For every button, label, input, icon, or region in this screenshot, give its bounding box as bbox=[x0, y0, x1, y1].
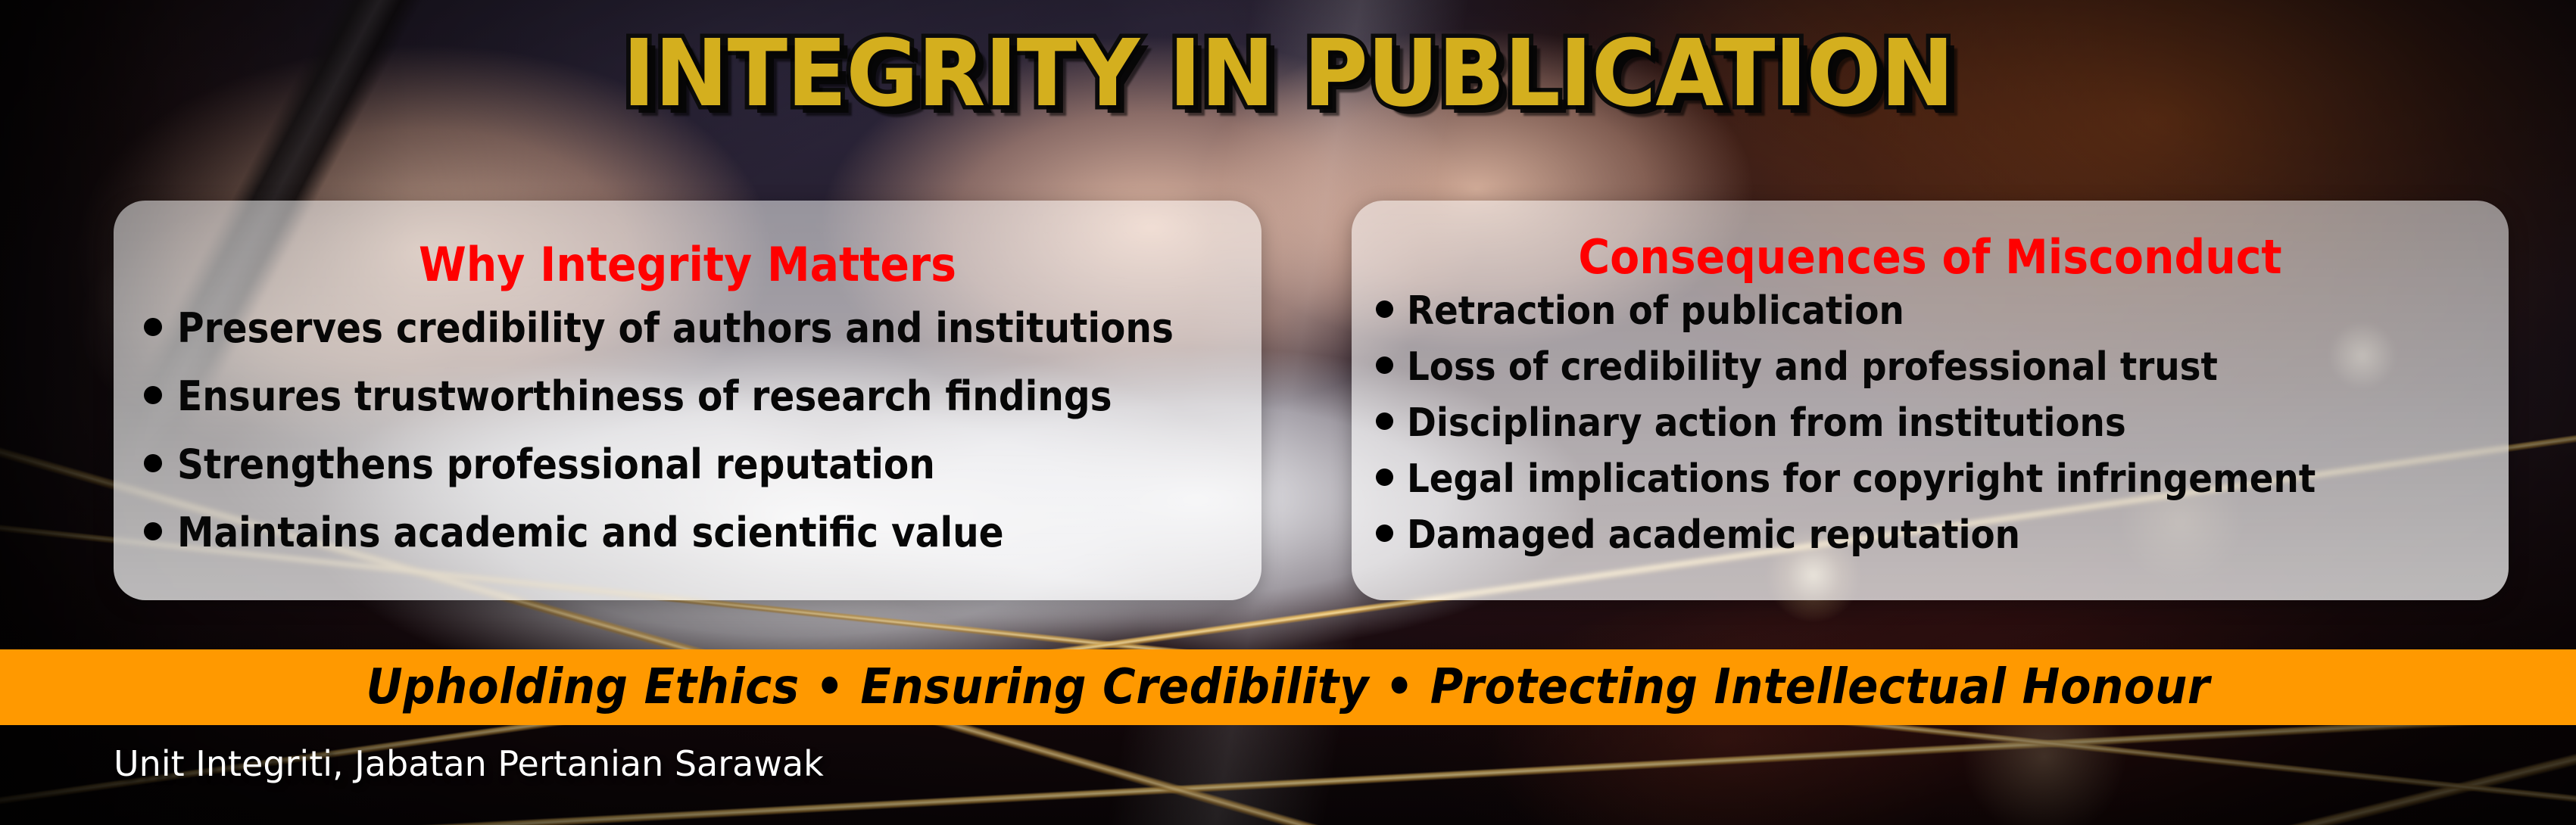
bullet-dot-icon bbox=[1376, 525, 1393, 542]
card-consequences-of-misconduct: Consequences of Misconduct Retraction of… bbox=[1352, 201, 2509, 600]
card-why-integrity-matters: Why Integrity Matters Preserves credibil… bbox=[114, 201, 1261, 600]
tagline-bar: Upholding Ethics • Ensuring Credibility … bbox=[0, 649, 2576, 725]
list-item: Loss of credibility and professional tru… bbox=[1352, 347, 2509, 387]
list-item-label: Retraction of publication bbox=[1407, 291, 1904, 331]
list-item-label: Ensures trustworthiness of research find… bbox=[177, 376, 1112, 417]
bullet-dot-icon bbox=[144, 522, 162, 540]
list-item: Retraction of publication bbox=[1352, 291, 2509, 331]
list-item-label: Disciplinary action from institutions bbox=[1407, 403, 2126, 443]
banner-title: INTEGRITY IN PUBLICATION bbox=[0, 27, 2576, 120]
list-item-label: Loss of credibility and professional tru… bbox=[1407, 347, 2218, 387]
tagline-text: Upholding Ethics • Ensuring Credibility … bbox=[366, 663, 2210, 711]
bullet-dot-icon bbox=[1376, 469, 1393, 486]
list-item-label: Strengthens professional reputation bbox=[177, 444, 935, 485]
integrity-banner: INTEGRITY IN PUBLICATION Why Integrity M… bbox=[0, 0, 2576, 825]
card-left-heading: Why Integrity Matters bbox=[114, 241, 1261, 288]
list-item-label: Preserves credibility of authors and ins… bbox=[177, 308, 1174, 349]
bullet-dot-icon bbox=[1376, 412, 1393, 430]
list-item: Damaged academic reputation bbox=[1352, 515, 2509, 555]
footer-credit: Unit Integriti, Jabatan Pertanian Sarawa… bbox=[114, 746, 824, 781]
list-item: Disciplinary action from institutions bbox=[1352, 403, 2509, 443]
card-left-bullet-list: Preserves credibility of authors and ins… bbox=[114, 308, 1261, 553]
bullet-dot-icon bbox=[144, 386, 162, 404]
bullet-dot-icon bbox=[1376, 300, 1393, 318]
list-item: Preserves credibility of authors and ins… bbox=[114, 308, 1261, 349]
bullet-dot-icon bbox=[144, 454, 162, 472]
list-item: Legal implications for copyright infring… bbox=[1352, 459, 2509, 499]
list-item-label: Damaged academic reputation bbox=[1407, 515, 2020, 555]
list-item: Strengthens professional reputation bbox=[114, 444, 1261, 485]
card-right-bullet-list: Retraction of publication Loss of credib… bbox=[1352, 291, 2509, 555]
list-item-label: Maintains academic and scientific value bbox=[177, 512, 1004, 553]
bullet-dot-icon bbox=[144, 318, 162, 336]
bullet-dot-icon bbox=[1376, 356, 1393, 374]
list-item: Ensures trustworthiness of research find… bbox=[114, 376, 1261, 417]
card-right-heading: Consequences of Misconduct bbox=[1352, 234, 2509, 281]
list-item: Maintains academic and scientific value bbox=[114, 512, 1261, 553]
list-item-label: Legal implications for copyright infring… bbox=[1407, 459, 2316, 499]
